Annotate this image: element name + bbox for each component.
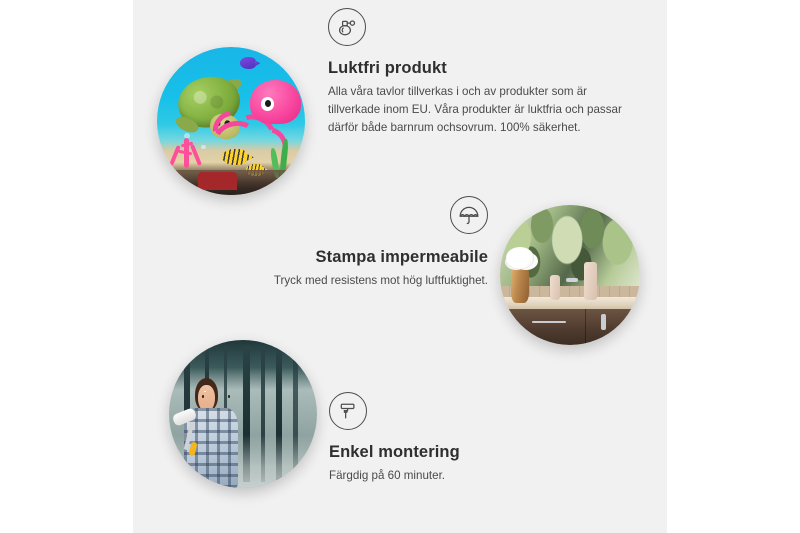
feature-mounting-text: Enkel montering Färgdig på 60 minuter. <box>329 392 629 485</box>
feature-waterproof-text: Stampa impermeabile Tryck med resistens … <box>193 196 488 290</box>
content-panel: Luktfri produkt Alla våra tavlor tillver… <box>133 0 667 533</box>
smile <box>204 391 206 392</box>
feature-body: Färgdig på 60 minuter. <box>329 467 629 485</box>
vase <box>511 267 529 303</box>
bathroom-vanity-photo <box>500 205 640 345</box>
yellow-fish <box>222 149 247 165</box>
feature-body: Tryck med resistens mot hög luftfuktighe… <box>193 272 488 290</box>
bottle <box>584 262 597 300</box>
feature-body: Alla våra tavlor tillverkas i och av pro… <box>328 83 638 137</box>
coral <box>166 130 207 168</box>
forest-scene <box>169 340 317 488</box>
flowers <box>506 247 534 269</box>
installer-person <box>175 378 252 488</box>
feature-title: Stampa impermeabile <box>193 248 488 268</box>
feature-odourless-text: Luktfri produkt Alla våra tavlor tillver… <box>328 8 638 137</box>
underwater-mural-photo <box>157 47 305 195</box>
cabinet-seam <box>585 309 587 345</box>
feature-title: Luktfri produkt <box>328 59 638 79</box>
umbrella-icon <box>450 196 488 234</box>
underwater-scene <box>157 47 305 195</box>
page-root: Luktfri produkt Alla våra tavlor tillver… <box>0 0 800 533</box>
paint-roller-icon <box>329 392 367 430</box>
purple-fish <box>240 57 256 69</box>
octopus-head <box>250 80 300 124</box>
faucet <box>566 278 579 282</box>
installer-forest-photo <box>169 340 317 488</box>
no-fragrance-icon <box>328 8 366 46</box>
door-handle <box>601 314 606 330</box>
bottle <box>550 275 560 300</box>
room-foreground <box>157 170 305 195</box>
vanity-cabinet <box>508 309 640 345</box>
feature-title: Enkel montering <box>329 443 629 463</box>
octopus-eye <box>261 97 274 110</box>
bathroom-scene <box>500 205 640 345</box>
drawer-handle <box>532 321 566 323</box>
